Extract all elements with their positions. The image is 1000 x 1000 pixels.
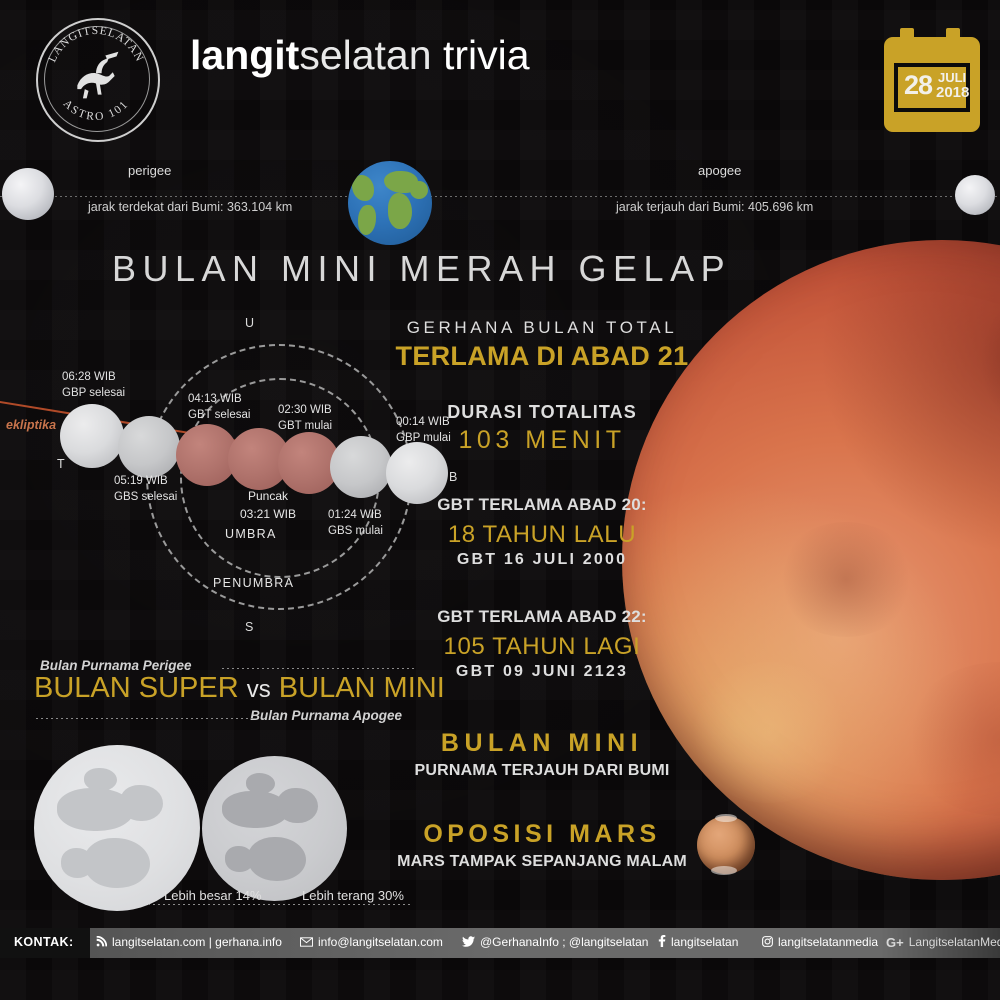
comparison-title: BULAN SUPER vs BULAN MINI (34, 672, 402, 705)
contact-footer: KONTAK: langitselatan.com | gerhana.info… (0, 928, 1000, 958)
peak-time: 03:21 WIB (240, 507, 296, 521)
phase-time-4: 02:30 WIB (278, 404, 332, 416)
envelope-icon (300, 937, 313, 947)
cardinal-north: U (245, 316, 254, 330)
penumbra-label: PENUMBRA (213, 576, 294, 590)
comparison-dotted-line-top (222, 668, 416, 669)
footer-item-instagram[interactable]: langitselatanmedia (762, 935, 878, 949)
contact-label: KONTAK: (14, 935, 74, 949)
phase-time-3: 04:13 WIB (188, 393, 242, 405)
minimoon-disc (202, 756, 347, 901)
infographic-canvas: LANGITSELATAN ASTRO 101 langitselatan tr… (0, 0, 1000, 1000)
footer-instagram-text: langitselatanmedia (778, 935, 878, 949)
footer-item-googleplus[interactable]: G+LangitselatanMedia (886, 935, 1000, 950)
date-badge: 28 JULI 2018 (884, 28, 980, 132)
apogee-label: apogee (698, 163, 741, 178)
perigee-label: perigee (128, 163, 171, 178)
eclipse-moon-1 (60, 404, 124, 468)
phase-label-4: 02:30 WIB GBT mulai (278, 403, 332, 434)
perigee-moon-icon (2, 168, 54, 220)
comparison-title-left: BULAN SUPER (34, 672, 239, 704)
minimoon-subtitle: PURNAMA TERJAUH DARI BUMI (392, 762, 692, 780)
calendar-body: 28 JULI 2018 (884, 37, 980, 132)
phase-event-3: GBT selesai (188, 409, 250, 421)
comparison-stats-line (148, 904, 410, 905)
brand-light: selatan (299, 32, 431, 78)
phase-label-1: 06:28 WIB GBP selesai (62, 370, 125, 401)
peak-label: Puncak (248, 489, 288, 503)
phase-event-1: GBP selesai (62, 387, 125, 399)
phase-label-2: 05:19 WIB GBS selesai (114, 474, 177, 505)
orbit-dotted-line (0, 196, 1000, 197)
facebook-icon (658, 935, 666, 947)
phase-time-1: 06:28 WIB (62, 371, 116, 383)
rss-icon (96, 936, 107, 947)
footer-item-email[interactable]: info@langitselatan.com (300, 935, 443, 949)
twitter-icon (462, 936, 475, 947)
eclipse-moon-6 (330, 436, 392, 498)
stat-size-label: Lebih besar 14% (164, 888, 262, 903)
brand-suffix: trivia (443, 32, 530, 78)
cardinal-east: T (57, 457, 65, 471)
footer-item-twitter[interactable]: @GerhanaInfo ; @langitselatan (462, 935, 648, 949)
footer-item-facebook[interactable]: langitselatan (658, 935, 738, 949)
calendar-screen: 28 JULI 2018 (898, 67, 966, 108)
apogee-moon-icon (955, 175, 995, 215)
brand-bold: langit (190, 32, 299, 78)
footer-googleplus-text: LangitselatanMedia (909, 935, 1000, 949)
phase-event-4: GBT mulai (278, 420, 332, 432)
supermoon-disc (34, 745, 200, 911)
century22-label: GBT TERLAMA ABAD 22: (392, 607, 692, 627)
apogee-distance: jarak terjauh dari Bumi: 405.696 km (616, 200, 813, 214)
calendar-inner-frame: 28 JULI 2018 (894, 63, 970, 112)
comparison-title-vs: vs (247, 676, 271, 703)
calendar-year: 2018 (936, 85, 969, 100)
langitselatan-logo: LANGITSELATAN ASTRO 101 (22, 18, 174, 138)
duration-label: DURASI TOTALITAS (392, 402, 692, 423)
phase-time-5: 01:24 WIB (328, 509, 382, 521)
mars-title: OPOSISI MARS (392, 820, 692, 849)
mars-subtitle: MARS TAMPAK SEPANJANG MALAM (392, 853, 692, 871)
umbra-label: UMBRA (225, 527, 277, 541)
googleplus-icon: G+ (886, 935, 904, 950)
century20-value: 18 TAHUN LALU (392, 521, 692, 549)
phase-time-2: 05:19 WIB (114, 475, 168, 487)
perigee-distance: jarak terdekat dari Bumi: 363.104 km (88, 200, 292, 214)
perigee-subtitle: Bulan Purnama Perigee (40, 658, 192, 673)
apogee-subtitle: Bulan Purnama Apogee (250, 708, 402, 723)
century22-value: 105 TAHUN LAGI (392, 633, 692, 661)
century20-label: GBT TERLAMA ABAD 20: (392, 495, 692, 515)
footer-email-text: info@langitselatan.com (318, 935, 443, 949)
page-title: BULAN MINI MERAH GELAP (112, 248, 731, 290)
footer-item-website[interactable]: langitselatan.com | gerhana.info (96, 935, 282, 949)
stat-brightness-label: Lebih terang 30% (302, 888, 404, 903)
calendar-day: 28 (904, 72, 932, 99)
cardinal-west: B (449, 470, 457, 484)
calendar-month: JULI (938, 71, 966, 85)
footer-facebook-text: langitselatan (671, 935, 738, 949)
eclipse-moon-2 (118, 416, 180, 478)
phase-label-5: 01:24 WIB GBS mulai (328, 508, 383, 539)
footer-twitter-text: @GerhanaInfo ; @langitselatan (480, 935, 648, 949)
century20-detail: GBT 16 JULI 2000 (392, 551, 692, 569)
duration-value: 103 MENIT (392, 426, 692, 455)
earth-icon (348, 161, 432, 245)
ecliptic-label: ekliptika (6, 418, 56, 432)
comparison-dotted-line-bottom (36, 718, 254, 719)
fact-headline-big: TERLAMA DI ABAD 21 (392, 341, 692, 372)
peak-block: Puncak 03:21 WIB (223, 487, 313, 523)
fact-headline-small: GERHANA BULAN TOTAL (392, 318, 692, 338)
comparison-title-right: BULAN MINI (279, 672, 445, 704)
centaur-archer-icon (68, 48, 124, 104)
phase-event-2: GBS selesai (114, 491, 177, 503)
cardinal-south: S (245, 620, 253, 634)
footer-website-text: langitselatan.com | gerhana.info (112, 935, 282, 949)
phase-event-5: GBS mulai (328, 525, 383, 537)
phase-label-3: 04:13 WIB GBT selesai (188, 392, 250, 423)
minimoon-title: BULAN MINI (392, 729, 692, 758)
mars-planet-icon (697, 816, 755, 874)
instagram-icon (762, 936, 773, 947)
brand-title: langitselatan trivia (190, 35, 530, 76)
